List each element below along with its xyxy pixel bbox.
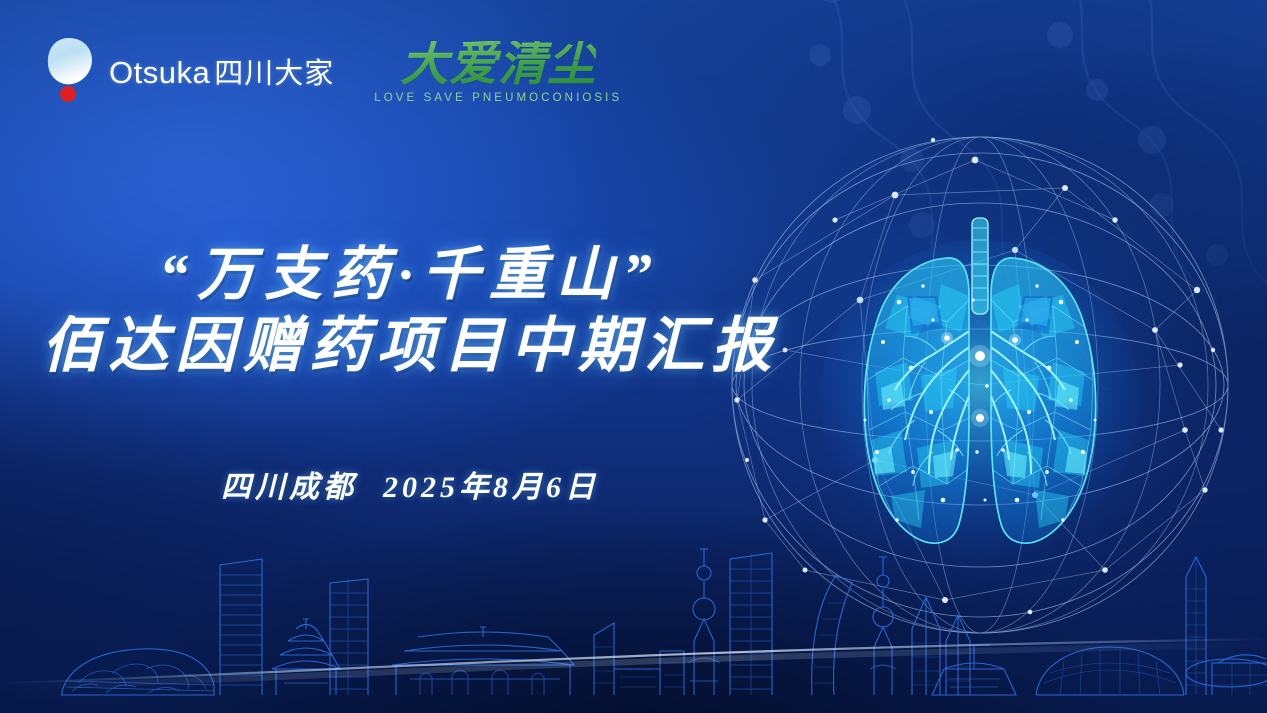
love-save-pneumoconiosis-logo: 大爱清尘 LOVE SAVE PNEUMOCONIOSIS (374, 41, 622, 104)
title-line-1: “万支药·千重山” (0, 244, 820, 307)
otsuka-blob-mark-icon (44, 36, 96, 106)
subtitle-location: 四川成都 (221, 471, 357, 504)
subtitle-date: 2025年8月6日 (383, 471, 599, 504)
title-line-2: 佰达因赠药项目中期汇报 (0, 313, 820, 380)
otsuka-logo: Otsuka四川大家 (44, 36, 334, 106)
slide-title: “万支药·千重山” 佰达因赠药项目中期汇报 (0, 244, 820, 380)
presentation-slide: Otsuka四川大家 大爱清尘 LOVE SAVE PNEUMOCONIOSIS (0, 0, 1267, 713)
logo-row: Otsuka四川大家 大爱清尘 LOVE SAVE PNEUMOCONIOSIS (44, 36, 622, 106)
otsuka-latin-name: Otsuka (109, 55, 210, 90)
otsuka-wordmark: Otsuka四川大家 (109, 50, 334, 92)
slide-subtitle: 四川成都2025年8月6日 (0, 462, 820, 506)
love-save-chinese-name: 大爱清尘 (400, 41, 596, 89)
love-save-english-tagline: LOVE SAVE PNEUMOCONIOSIS (374, 92, 622, 104)
otsuka-chinese-name: 四川大家 (214, 58, 334, 90)
